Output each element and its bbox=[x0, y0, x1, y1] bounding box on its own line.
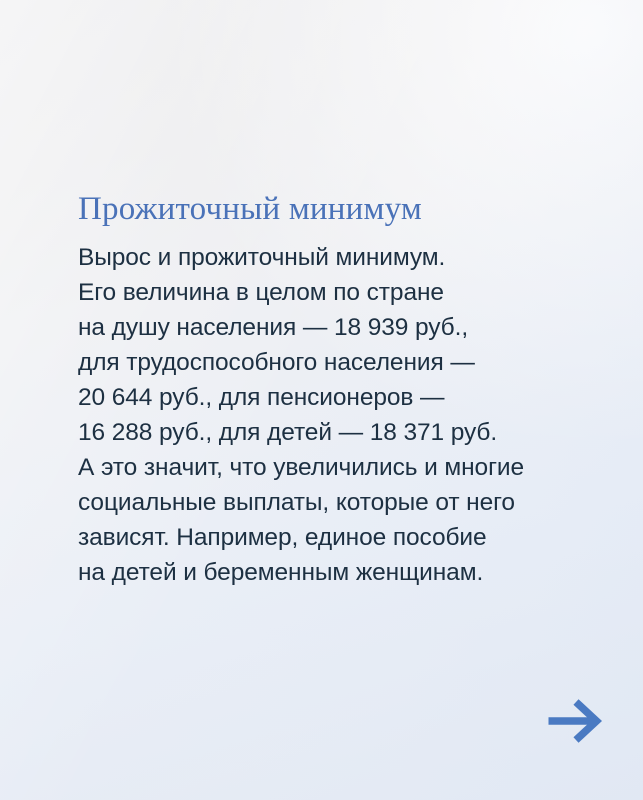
arrow-right-icon bbox=[546, 698, 604, 744]
page-title: Прожиточный минимум bbox=[78, 190, 598, 228]
slide-card: Прожиточный минимум Вырос и прожиточный … bbox=[0, 0, 643, 800]
next-slide-button[interactable] bbox=[546, 698, 604, 744]
slide-content: Прожиточный минимум Вырос и прожиточный … bbox=[78, 190, 598, 590]
slide-body-text: Вырос и прожиточный минимум. Его величин… bbox=[78, 240, 598, 590]
